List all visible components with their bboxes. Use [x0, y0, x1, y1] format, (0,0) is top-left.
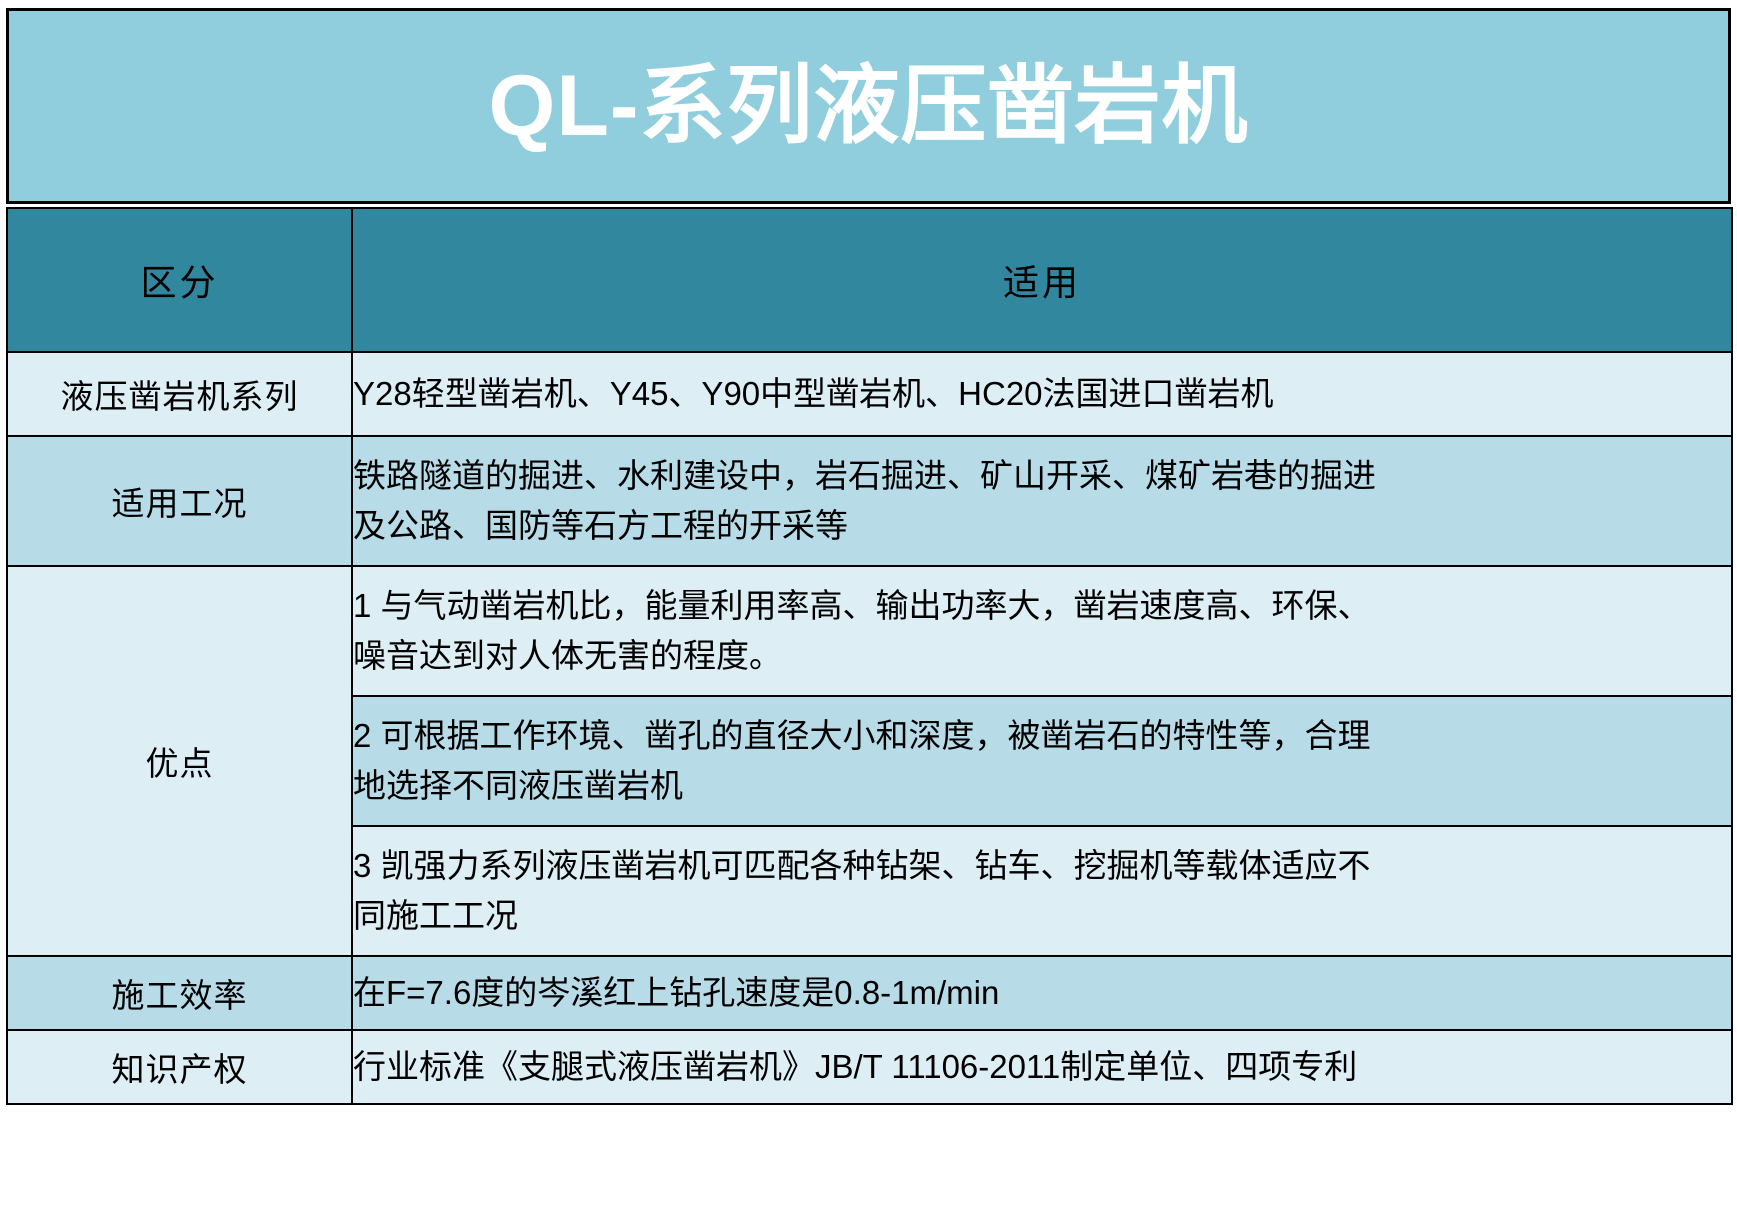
- value-line: 及公路、国防等石方工程的开采等: [353, 501, 1731, 551]
- table-header-row: 区分 适用: [7, 208, 1732, 352]
- row-value-conditions: 铁路隧道的掘进、水利建设中，岩石掘进、矿山开采、煤矿岩巷的掘进 及公路、国防等石…: [352, 436, 1732, 566]
- row-label-series: 液压凿岩机系列: [7, 352, 352, 436]
- value-line: Y28轻型凿岩机、Y45、Y90中型凿岩机、HC20法国进口凿岩机: [353, 369, 1731, 419]
- table-row: 优点 1 与气动凿岩机比，能量利用率高、输出功率大，凿岩速度高、环保、 噪音达到…: [7, 566, 1732, 696]
- row-label-advantages: 优点: [7, 566, 352, 956]
- row-value-advantage-3: 3 凯强力系列液压凿岩机可匹配各种钻架、钻车、挖掘机等载体适应不 同施工工况: [352, 826, 1732, 956]
- header-application: 适用: [352, 208, 1732, 352]
- table-row: 施工效率 在F=7.6度的岑溪红上钻孔速度是0.8-1m/min: [7, 956, 1732, 1030]
- value-line: 2 可根据工作环境、凿孔的直径大小和深度，被凿岩石的特性等，合理: [353, 711, 1731, 761]
- page-title: QL-系列液压凿岩机: [488, 63, 1248, 149]
- row-value-advantage-2: 2 可根据工作环境、凿孔的直径大小和深度，被凿岩石的特性等，合理 地选择不同液压…: [352, 696, 1732, 826]
- row-value-series: Y28轻型凿岩机、Y45、Y90中型凿岩机、HC20法国进口凿岩机: [352, 352, 1732, 436]
- table-row: 适用工况 铁路隧道的掘进、水利建设中，岩石掘进、矿山开采、煤矿岩巷的掘进 及公路…: [7, 436, 1732, 566]
- row-value-ip: 行业标准《支腿式液压凿岩机》JB/T 11106-2011制定单位、四项专利: [352, 1030, 1732, 1104]
- value-line: 3 凯强力系列液压凿岩机可匹配各种钻架、钻车、挖掘机等载体适应不: [353, 841, 1731, 891]
- table-row: 知识产权 行业标准《支腿式液压凿岩机》JB/T 11106-2011制定单位、四…: [7, 1030, 1732, 1104]
- row-value-efficiency: 在F=7.6度的岑溪红上钻孔速度是0.8-1m/min: [352, 956, 1732, 1030]
- table-row: 液压凿岩机系列 Y28轻型凿岩机、Y45、Y90中型凿岩机、HC20法国进口凿岩…: [7, 352, 1732, 436]
- row-label-conditions: 适用工况: [7, 436, 352, 566]
- spec-sheet: QL-系列液压凿岩机 区分 适用 液压凿岩机系列 Y28轻型凿岩机、Y45、Y9…: [0, 0, 1737, 1207]
- value-line: 同施工工况: [353, 891, 1731, 941]
- value-line: 1 与气动凿岩机比，能量利用率高、输出功率大，凿岩速度高、环保、: [353, 581, 1731, 631]
- value-line: 在F=7.6度的岑溪红上钻孔速度是0.8-1m/min: [353, 968, 1731, 1018]
- header-category: 区分: [7, 208, 352, 352]
- value-line: 噪音达到对人体无害的程度。: [353, 631, 1731, 681]
- specification-table: 区分 适用 液压凿岩机系列 Y28轻型凿岩机、Y45、Y90中型凿岩机、HC20…: [6, 207, 1733, 1105]
- value-line: 行业标准《支腿式液压凿岩机》JB/T 11106-2011制定单位、四项专利: [353, 1042, 1731, 1092]
- row-label-efficiency: 施工效率: [7, 956, 352, 1030]
- row-value-advantage-1: 1 与气动凿岩机比，能量利用率高、输出功率大，凿岩速度高、环保、 噪音达到对人体…: [352, 566, 1732, 696]
- value-line: 地选择不同液压凿岩机: [353, 761, 1731, 811]
- value-line: 铁路隧道的掘进、水利建设中，岩石掘进、矿山开采、煤矿岩巷的掘进: [353, 451, 1731, 501]
- title-banner: QL-系列液压凿岩机: [6, 8, 1731, 204]
- row-label-ip: 知识产权: [7, 1030, 352, 1104]
